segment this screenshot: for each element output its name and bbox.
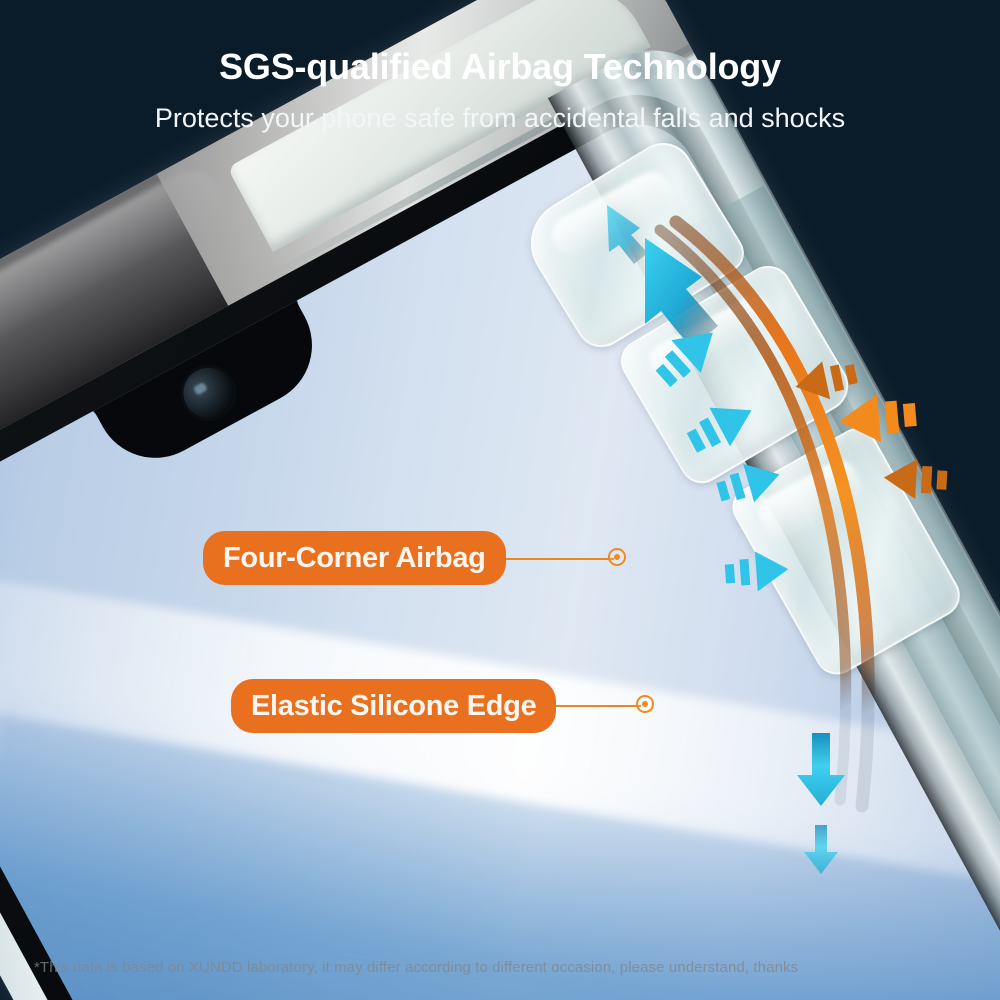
page-title: SGS-qualified Airbag Technology xyxy=(0,46,1000,88)
leader-dot-icon xyxy=(608,548,626,566)
callout-four-corner-airbag[interactable]: Four-Corner Airbag xyxy=(203,531,506,585)
page-subtitle: Protects your phone safe from accidental… xyxy=(0,103,1000,134)
disclaimer-footnote: *This data is based on XUNDD laboratory,… xyxy=(34,959,974,976)
marketing-image-canvas: SGS-qualified Airbag Technology Protects… xyxy=(0,0,1000,1000)
phone-with-case-illustration xyxy=(0,0,1000,1000)
leader-dot-icon xyxy=(636,695,654,713)
callout-elastic-silicone-edge[interactable]: Elastic Silicone Edge xyxy=(231,679,556,733)
